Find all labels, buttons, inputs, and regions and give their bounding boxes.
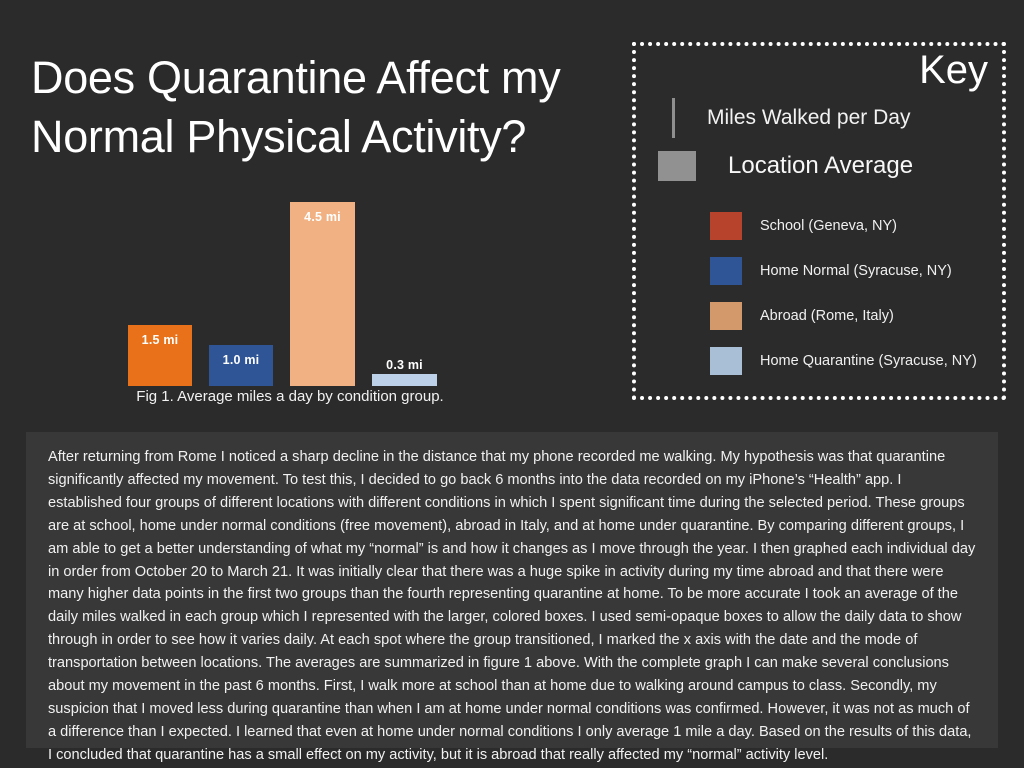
- page-title-line-2: Normal Physical Activity?: [31, 107, 621, 166]
- figure-caption: Fig 1. Average miles a day by condition …: [100, 388, 480, 405]
- legend-list: School (Geneva, NY) Home Normal (Syracus…: [710, 203, 1000, 383]
- legend-item-home-normal: Home Normal (Syracuse, NY): [710, 248, 1000, 293]
- legend-swatch-home-quarantine: [710, 347, 742, 375]
- bar-label-home-quarantine: 0.3 mi: [372, 358, 437, 372]
- body-text-panel: After returning from Rome I noticed a sh…: [26, 432, 998, 748]
- bar-label-abroad: 4.5 mi: [290, 210, 355, 224]
- legend-swatch-home-normal: [710, 257, 742, 285]
- bar-label-school: 1.5 mi: [128, 333, 192, 347]
- legend-label-school: School (Geneva, NY): [760, 218, 897, 234]
- gray-square-icon: [658, 151, 696, 181]
- page-title-line-1: Does Quarantine Affect my: [31, 48, 621, 107]
- legend-label-home-normal: Home Normal (Syracuse, NY): [760, 263, 952, 279]
- legend-label-home-quarantine: Home Quarantine (Syracuse, NY): [760, 353, 977, 369]
- bar-group-abroad: 4.5 mi: [290, 190, 355, 386]
- bar-label-home-normal: 1.0 mi: [209, 353, 273, 367]
- page-title: Does Quarantine Affect my Normal Physica…: [31, 48, 621, 167]
- legend-swatch-school: [710, 212, 742, 240]
- legend-item-home-quarantine: Home Quarantine (Syracuse, NY): [710, 338, 1000, 383]
- bar-chart: 1.5 mi 1.0 mi 4.5 mi 0.3 mi: [100, 190, 480, 386]
- key-average-label: Location Average: [728, 152, 913, 180]
- key-daily-label: Miles Walked per Day: [707, 106, 910, 130]
- figure-1: 1.5 mi 1.0 mi 4.5 mi 0.3 mi Fig 1. Avera…: [100, 190, 480, 410]
- vertical-line-icon: [672, 98, 675, 138]
- key-title: Key: [919, 48, 988, 92]
- key-panel: Key Miles Walked per Day Location Averag…: [632, 42, 1006, 400]
- bar-abroad: [290, 202, 355, 386]
- bar-group-school: 1.5 mi: [128, 190, 192, 386]
- bar-group-home-quarantine: 0.3 mi: [372, 190, 437, 386]
- legend-label-abroad: Abroad (Rome, Italy): [760, 308, 894, 324]
- bar-group-home-normal: 1.0 mi: [209, 190, 273, 386]
- legend-item-abroad: Abroad (Rome, Italy): [710, 293, 1000, 338]
- bar-home-quarantine: [372, 374, 437, 386]
- legend-swatch-abroad: [710, 302, 742, 330]
- key-row-location-average: Location Average: [658, 151, 913, 181]
- body-paragraph: After returning from Rome I noticed a sh…: [48, 446, 976, 767]
- legend-item-school: School (Geneva, NY): [710, 203, 1000, 248]
- key-row-daily-miles: Miles Walked per Day: [672, 98, 910, 138]
